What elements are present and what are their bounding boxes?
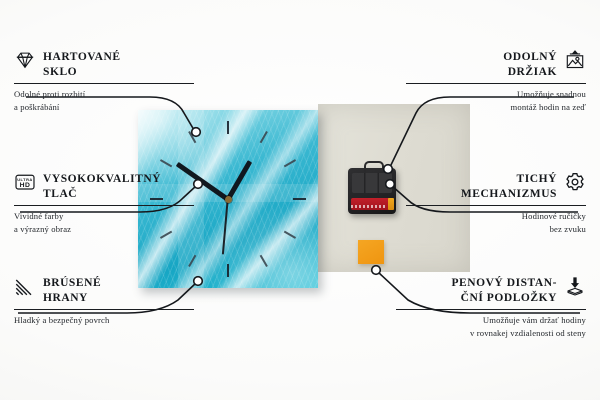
clock-tick bbox=[284, 231, 296, 239]
feature-title-line2: TLAČ bbox=[43, 188, 77, 200]
clock-tick bbox=[260, 131, 268, 143]
gear-icon bbox=[564, 171, 586, 193]
clock-tick bbox=[293, 198, 306, 200]
feature-title-line1: PENOVÝ DISTAN- bbox=[451, 277, 557, 289]
feature-title-line2: SKLO bbox=[43, 66, 77, 78]
clock-tick bbox=[160, 159, 172, 167]
battery bbox=[351, 198, 391, 210]
feature-heading: TICHÝ MECHANIZMUS bbox=[406, 172, 586, 201]
feature-desc-line2: v rovnakej vzdialenosti od steny bbox=[470, 328, 586, 338]
feature-foam-spacers: PENOVÝ DISTAN- ČNÍ PODLOŽKY Umožňuje vám… bbox=[396, 276, 586, 339]
mechanism-housing bbox=[352, 173, 392, 193]
feature-heading: ultra HD VYSOKOKVALITNÝ TLAČ bbox=[14, 172, 194, 201]
mechanism-hanger-hook bbox=[364, 161, 384, 173]
foam-pad-icon bbox=[564, 275, 586, 297]
feature-heading: HARTOVANÉ SKLO bbox=[14, 50, 194, 79]
feature-description: Hodinové ručičky bez zvuku bbox=[406, 210, 586, 234]
svg-text:HD: HD bbox=[20, 182, 31, 189]
bevelled-edge-icon bbox=[14, 275, 36, 297]
battery-label bbox=[351, 205, 385, 208]
feature-heading: BRÚSENÉ HRANY bbox=[14, 276, 194, 305]
clock-tick bbox=[188, 255, 196, 267]
foam-spacer-pad bbox=[358, 240, 384, 264]
clock-tick bbox=[188, 131, 196, 143]
feature-heading: ODOLNÝ DRŽIAK bbox=[406, 50, 586, 79]
feature-title-line1: TICHÝ bbox=[517, 173, 557, 185]
clock-tick bbox=[227, 264, 229, 277]
feature-desc-line2: a výrazný obraz bbox=[14, 224, 71, 234]
feature-description: Hladký a bezpečný povrch bbox=[14, 314, 194, 326]
clock-tick bbox=[227, 121, 229, 134]
feature-title-line2: HRANY bbox=[43, 292, 88, 304]
feature-title-line1: HARTOVANÉ bbox=[43, 51, 121, 63]
clock-tick bbox=[284, 159, 296, 167]
feature-divider bbox=[14, 205, 194, 206]
feature-title-line1: ODOLNÝ bbox=[503, 51, 557, 63]
feature-polished-edges: BRÚSENÉ HRANY Hladký a bezpečný povrch bbox=[14, 276, 194, 327]
feature-description: Umožňuje vám držať hodiny v rovnakej vzd… bbox=[396, 314, 586, 338]
feature-divider bbox=[396, 309, 586, 310]
feature-title-line2: MECHANIZMUS bbox=[461, 188, 557, 200]
feature-silent-mechanism: TICHÝ MECHANIZMUS Hodinové ručičky bez z… bbox=[406, 172, 586, 235]
feature-high-quality-print: ultra HD VYSOKOKVALITNÝ TLAČ Vividné far… bbox=[14, 172, 194, 235]
feature-divider bbox=[14, 83, 194, 84]
diamond-icon bbox=[14, 49, 36, 71]
feature-desc-line2: montáž hodin na zeď bbox=[511, 102, 586, 112]
feature-divider bbox=[406, 83, 586, 84]
feature-title-line1: BRÚSENÉ bbox=[43, 277, 101, 289]
clock-center-cap bbox=[225, 196, 232, 203]
clock-tick bbox=[260, 255, 268, 267]
feature-title-line1: VYSOKOKVALITNÝ bbox=[43, 173, 161, 185]
feature-desc-line1: Hladký a bezpečný povrch bbox=[14, 315, 109, 325]
feature-tempered-glass: HARTOVANÉ SKLO Odolné proti rozbití a po… bbox=[14, 50, 194, 113]
feature-desc-line2: bez zvuku bbox=[550, 224, 586, 234]
feature-title-line2: DRŽIAK bbox=[508, 66, 557, 78]
feature-description: Odolné proti rozbití a poškrábání bbox=[14, 88, 194, 112]
feature-desc-line1: Odolné proti rozbití bbox=[14, 89, 85, 99]
feature-durable-hanger: ODOLNÝ DRŽIAK Umožňuje snadnou montáž ho… bbox=[406, 50, 586, 113]
feature-desc-line1: Vividné farby bbox=[14, 211, 63, 221]
clock-mechanism bbox=[348, 168, 396, 214]
feature-description: Vividné farby a výrazný obraz bbox=[14, 210, 194, 234]
feature-title-line2: ČNÍ PODLOŽKY bbox=[461, 292, 557, 304]
feature-desc-line1: Hodinové ručičky bbox=[522, 211, 586, 221]
feature-desc-line1: Umožňuje snadnou bbox=[517, 89, 586, 99]
feature-desc-line2: a poškrábání bbox=[14, 102, 59, 112]
feature-description: Umožňuje snadnou montáž hodin na zeď bbox=[406, 88, 586, 112]
infographic-canvas: HARTOVANÉ SKLO Odolné proti rozbití a po… bbox=[0, 0, 600, 400]
picture-hanger-icon bbox=[564, 49, 586, 71]
feature-heading: PENOVÝ DISTAN- ČNÍ PODLOŽKY bbox=[396, 276, 586, 305]
ultra-hd-icon: ultra HD bbox=[14, 171, 36, 193]
feature-divider bbox=[14, 309, 194, 310]
feature-desc-line1: Umožňuje vám držať hodiny bbox=[483, 315, 586, 325]
feature-divider bbox=[406, 205, 586, 206]
battery-terminal bbox=[388, 198, 394, 210]
